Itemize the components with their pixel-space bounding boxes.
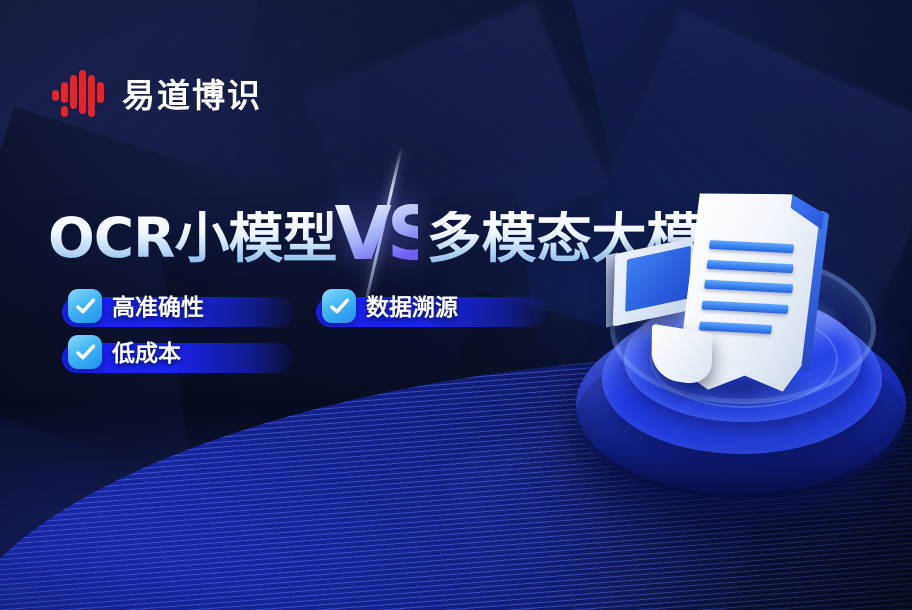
check-icon [68, 335, 102, 369]
vs-text: VS [334, 189, 418, 279]
document-icon [676, 189, 825, 394]
check-icon [68, 289, 102, 323]
headline-left: OCR小模型 [48, 211, 336, 266]
feature-label: 数据溯源 [366, 288, 458, 322]
feature-row-2: 低成本 [62, 343, 548, 373]
feature-list: 高准确性 数据溯源 低成本 [62, 297, 548, 389]
feature-pill-accuracy[interactable]: 高准确性 [62, 297, 294, 327]
feature-pill-traceability[interactable]: 数据溯源 [316, 297, 548, 327]
feature-label: 低成本 [112, 334, 181, 368]
check-icon [322, 289, 356, 323]
brand-logo[interactable]: 易道博识 [52, 70, 262, 120]
brand-name-text: 易道博识 [122, 79, 262, 112]
document-on-podium-3d [566, 188, 912, 518]
brand-name: 易道博识 [122, 79, 262, 112]
waveform-bars-icon [52, 70, 108, 120]
promo-banner: REPORT 易道博识 OCR小模型 VS 多模态大模型 [0, 0, 912, 610]
vs-badge: VS [334, 193, 418, 283]
feature-row-1: 高准确性 数据溯源 [62, 297, 548, 327]
feature-label: 高准确性 [112, 288, 204, 322]
feature-pill-low-cost[interactable]: 低成本 [62, 343, 294, 373]
back-card-screen [625, 246, 691, 312]
